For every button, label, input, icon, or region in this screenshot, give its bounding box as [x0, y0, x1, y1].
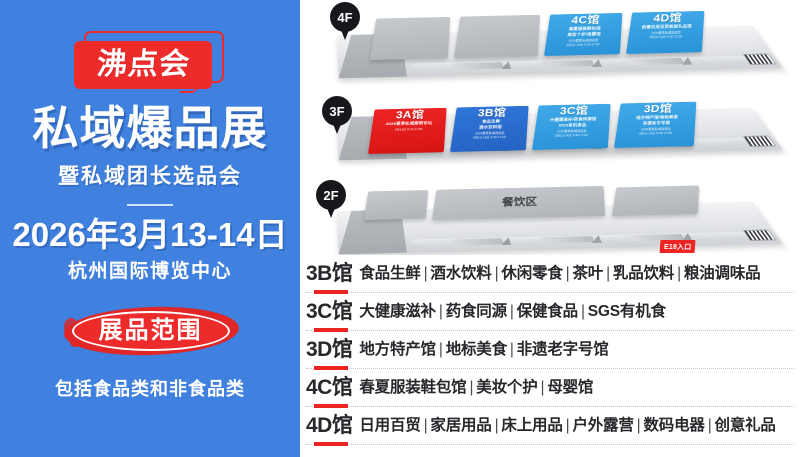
page-subtitle: 暨私域团长选品会	[58, 160, 242, 190]
escalator-icon	[450, 238, 504, 245]
event-date: 2026年3月13-14日	[12, 218, 287, 253]
hall-item: 药食同源	[446, 303, 507, 320]
hall-item-separator: |	[581, 303, 585, 320]
escalator-icon	[540, 60, 595, 67]
map-tile-餐饮区[interactable]: 餐饮区	[432, 186, 605, 220]
hall-row[interactable]: 3B馆食品生鲜|酒水饮料|休闲零食|茶叶|乳品饮料|粮油调味品	[306, 255, 794, 293]
hall-items: 春夏服装鞋包馆|美妆个护|母婴馆	[359, 380, 593, 396]
map-tile-subtitle: 大健康滋补/药食同源馆SGS有机食品	[535, 117, 610, 130]
hall-item: 休闲零食	[501, 265, 562, 282]
escalator-icon	[450, 62, 504, 69]
map-tile-date: 2026春季私域选品会3月13-14日 9:30-17:00	[616, 127, 695, 137]
hall-item: 美妆个护	[476, 379, 537, 396]
floor-row-4f: 4C馆春夏服装鞋包馆美妆个护/母婴馆2026春季私域选品会3月13-14日 9:…	[300, 6, 800, 92]
escalator-icon	[630, 58, 685, 65]
map-tile-date: 2026春季私域选品会3月13-14日 9:30-17:00	[452, 131, 527, 140]
hall-code: 4D馆	[306, 415, 352, 436]
hall-item: 日用百贸	[359, 417, 420, 434]
floor-row-3f: 3A馆2026春季私域案例论坛3月13日 9:30-17:003B馆食品生鲜酒水…	[300, 88, 800, 180]
page-title: 私域爆品展	[33, 104, 268, 154]
hall-code: 3B馆	[306, 263, 352, 284]
scope-badge-ellipse: 展品范围	[72, 311, 230, 351]
map-tile-blank[interactable]	[612, 185, 699, 216]
escalator-icon	[540, 236, 595, 243]
logo-badge: 沸点会	[74, 41, 212, 89]
map-tile-3A馆[interactable]: 3A馆2026春季私域案例论坛3月13日 9:30-17:00	[368, 108, 447, 154]
map-tile-name: 餐饮区	[434, 195, 605, 209]
map-tile-4C馆[interactable]: 4C馆春夏服装鞋包馆美妆个护/母婴馆2026春季私域选品会3月13-14日 9:…	[544, 13, 622, 56]
map-pin-label: 3F	[322, 96, 352, 126]
hall-item-separator: |	[424, 265, 428, 282]
map-pin-2F: 2F	[316, 180, 346, 218]
hall-item: 粮油调味品	[684, 265, 761, 282]
hall-item-separator: |	[541, 379, 545, 396]
hall-item-separator: |	[510, 341, 514, 358]
hall-item-separator: |	[495, 265, 499, 282]
map-tile-4D馆[interactable]: 4D馆创意日用百贸家居礼品馆2026春季私域选品会3月13-14日 9:30-1…	[626, 11, 704, 54]
hall-item-separator: |	[510, 303, 514, 320]
hall-item: 非遗老字号馆	[517, 341, 609, 358]
map-tile-name: 4C馆	[548, 15, 622, 27]
hall-item-separator: |	[439, 303, 443, 320]
right-content-panel: 4C馆春夏服装鞋包馆美妆个护/母婴馆2026春季私域选品会3月13-14日 9:…	[300, 0, 800, 457]
map-pin-label: 4F	[330, 2, 360, 32]
map-pin-label: 2F	[316, 180, 346, 210]
hall-item: 母婴馆	[547, 379, 593, 396]
hall-category-list: 3B馆食品生鲜|酒水饮料|休闲零食|茶叶|乳品饮料|粮油调味品3C馆大健康滋补|…	[300, 255, 800, 457]
divider	[127, 204, 173, 206]
map-tile-date: 2026春季私域选品会3月13-14日 9:30-17:00	[534, 129, 609, 138]
hall-items: 食品生鲜|酒水饮料|休闲零食|茶叶|乳品饮料|粮油调味品	[359, 266, 760, 282]
hall-item-separator: |	[469, 379, 473, 396]
hall-item-separator: |	[495, 417, 499, 434]
hall-item: 地方特产馆	[359, 341, 436, 358]
hall-item: 地标美食	[446, 341, 507, 358]
hall-item: 乳品饮料	[613, 265, 674, 282]
hall-item: SGS有机食	[588, 303, 666, 320]
hall-items: 大健康滋补|药食同源|保健食品|SGS有机食	[359, 304, 665, 320]
brand-logo: 沸点会	[74, 38, 226, 92]
hall-item: 创意礼品	[715, 417, 776, 434]
hall-code-underline	[314, 442, 348, 446]
hall-code: 4C馆	[306, 377, 352, 398]
floor-map: 4C馆春夏服装鞋包馆美妆个护/母婴馆2026春季私域选品会3月13-14日 9:…	[300, 0, 800, 255]
map-tile-date: 3月13日 9:30-17:00	[371, 127, 445, 133]
map-tile-subtitle: 食品生鲜酒水饮料馆	[453, 119, 528, 132]
map-tile-name: 3D馆	[619, 103, 696, 115]
hall-items: 日用百贸|家居用品|床上用品|户外露营|数码电器|创意礼品	[359, 418, 775, 434]
hall-item: 大健康滋补	[359, 303, 436, 320]
hall-item-separator: |	[566, 417, 570, 434]
hall-code: 3C馆	[306, 301, 352, 322]
hall-item-separator: |	[606, 265, 610, 282]
hall-item: 春夏服装鞋包馆	[359, 379, 466, 396]
entrance-tag: E18入口	[660, 240, 696, 253]
hall-item: 床上用品	[501, 417, 562, 434]
map-pin-3F: 3F	[322, 96, 352, 134]
map-tile-subtitle: 春夏服装鞋包馆美妆个护/母婴馆	[547, 26, 622, 39]
hall-item: 酒水饮料	[430, 265, 491, 282]
hall-item: 数码电器	[643, 417, 704, 434]
map-tile-name: 4D馆	[630, 13, 704, 25]
hall-item-separator: |	[677, 265, 681, 282]
map-tile-name: 3A馆	[373, 109, 447, 121]
map-tile-3B馆[interactable]: 3B馆食品生鲜酒水饮料馆2026春季私域选品会3月13-14日 9:30-17:…	[450, 106, 529, 152]
map-tile-subtitle: 地方特产馆/地标美食非遗老字号馆	[617, 114, 695, 127]
map-tile-name: 3B馆	[455, 107, 529, 119]
hall-item: 户外露营	[572, 417, 633, 434]
poster-root: 沸点会 私域爆品展 暨私域团长选品会 2026年3月13-14日 杭州国际博览中…	[0, 0, 800, 457]
hall-row[interactable]: 4C馆春夏服装鞋包馆|美妆个护|母婴馆	[306, 369, 794, 407]
logo-text: 沸点会	[95, 50, 191, 80]
map-tile-3C馆[interactable]: 3C馆大健康滋补/药食同源馆SGS有机食品2026春季私域选品会3月13-14日…	[532, 104, 611, 150]
hall-item-separator: |	[708, 417, 712, 434]
hall-row[interactable]: 3C馆大健康滋补|药食同源|保健食品|SGS有机食	[306, 293, 794, 331]
hall-row[interactable]: 4D馆日用百贸|家居用品|床上用品|户外露营|数码电器|创意礼品	[306, 407, 794, 445]
map-tile-name: 3C馆	[537, 105, 611, 117]
floor-row-2f: 餐饮区2F	[300, 182, 800, 254]
hall-item: 食品生鲜	[359, 265, 420, 282]
hall-item-separator: |	[439, 341, 443, 358]
scope-badge-label: 展品范围	[99, 319, 203, 343]
map-tile-3D馆[interactable]: 3D馆地方特产馆/地标美食非遗老字号馆2026春季私域选品会3月13-14日 9…	[614, 102, 696, 148]
hall-code: 3D馆	[306, 339, 352, 360]
hall-item: 家居用品	[430, 417, 491, 434]
map-tile-date: 2026春季私域选品会3月13-14日 9:30-17:00	[545, 38, 621, 48]
hall-items: 地方特产馆|地标美食|非遗老字号馆	[359, 342, 608, 358]
map-tile-date: 2026春季私域选品会3月13-14日 9:30-17:00	[628, 30, 703, 39]
map-tile-blank[interactable]	[370, 17, 450, 60]
hall-item-separator: |	[637, 417, 641, 434]
hall-item: 茶叶	[572, 265, 603, 282]
scope-note: 包括食品类和非食品类	[55, 375, 245, 401]
map-pin-4F: 4F	[330, 2, 360, 40]
map-tile-blank[interactable]	[454, 15, 540, 58]
hall-row[interactable]: 3D馆地方特产馆|地标美食|非遗老字号馆	[306, 331, 794, 369]
hall-item-separator: |	[424, 417, 428, 434]
hall-item: 保健食品	[517, 303, 578, 320]
event-venue: 杭州国际博览中心	[68, 256, 232, 283]
hall-item-separator: |	[566, 265, 570, 282]
left-info-panel: 沸点会 私域爆品展 暨私域团长选品会 2026年3月13-14日 杭州国际博览中…	[0, 0, 300, 457]
scope-badge: 展品范围	[58, 305, 243, 357]
map-tile-blank[interactable]	[364, 190, 428, 220]
